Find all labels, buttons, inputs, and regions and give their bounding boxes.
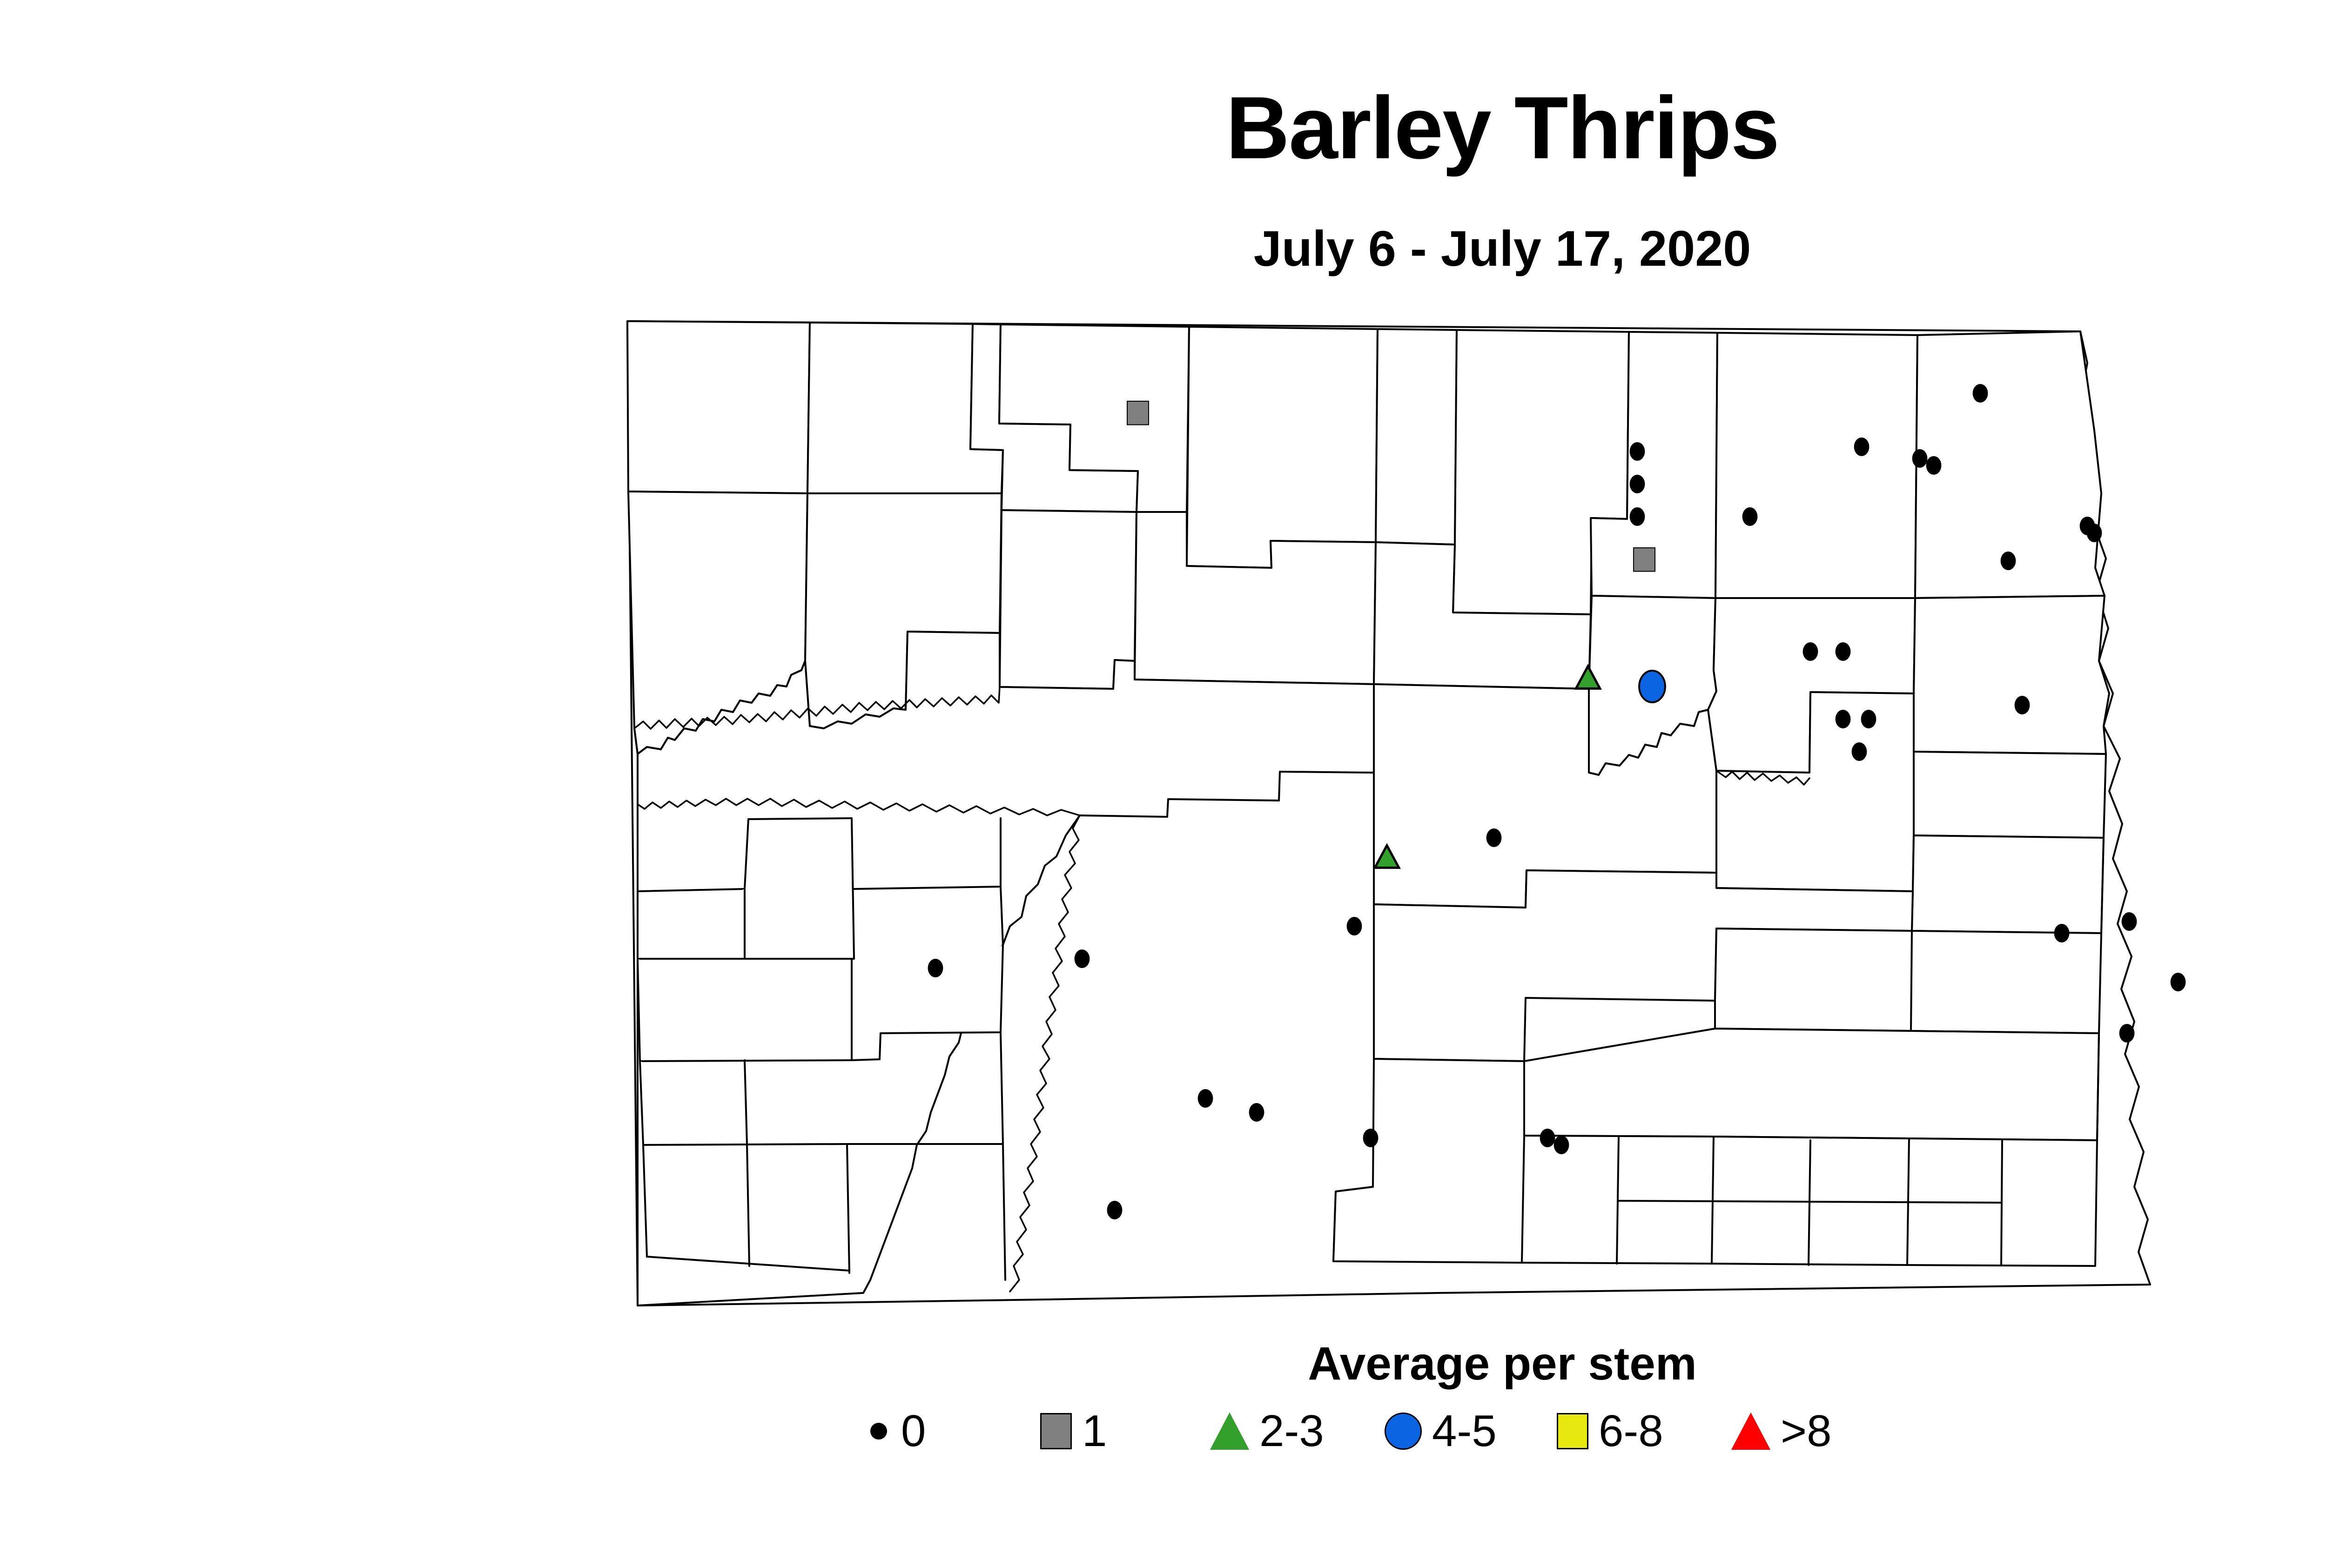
map-marker-0	[2001, 552, 2016, 570]
map-marker-0	[1075, 949, 1090, 968]
legend-item-label: 4-5	[1432, 1409, 1497, 1454]
map-marker-0	[2171, 973, 2186, 991]
map-marker-0	[1926, 456, 1942, 475]
map-marker-1	[1634, 548, 1655, 572]
map-marker-0	[1803, 642, 1818, 661]
yellow-square-icon	[1557, 1413, 1588, 1449]
map-marker-0	[1852, 742, 1867, 761]
map-page: Barley Thrips July 6 - July 17, 2020	[0, 0, 2327, 1568]
legend-item-label: 0	[901, 1409, 926, 1454]
county-line	[1911, 931, 1912, 1031]
map-marker-0	[1854, 437, 1870, 456]
map-marker-0	[1630, 507, 1645, 526]
map-svg	[591, 307, 2266, 1322]
map-marker-0	[2122, 912, 2137, 931]
county	[1187, 327, 1378, 568]
county	[1376, 329, 1457, 545]
map-marker-0	[1198, 1089, 1213, 1108]
map-marker-0	[1742, 507, 1758, 526]
map-marker-1	[1127, 401, 1149, 425]
map-marker-0	[1486, 828, 1502, 847]
page-subtitle: July 6 - July 17, 2020	[0, 223, 2327, 274]
map-marker-0	[1630, 442, 1645, 461]
map-base-layer	[627, 321, 2150, 1306]
green-triangle-icon	[1210, 1413, 1249, 1450]
map-marker-0	[1347, 917, 1362, 935]
map-marker-45	[1639, 671, 1665, 702]
page-title: Barley Thrips	[0, 84, 2327, 172]
legend-item-1[interactable]: 1	[1040, 1401, 1107, 1461]
legend-item-label: 2-3	[1259, 1409, 1324, 1454]
legend-item-68[interactable]: 6-8	[1557, 1401, 1663, 1461]
county-line	[1809, 1202, 2001, 1203]
legend-item-8[interactable]: >8	[1731, 1401, 1831, 1461]
map-marker-0	[2015, 696, 2030, 714]
blue-circle-icon	[1385, 1413, 1422, 1450]
legend: 012-34-56-8>8	[870, 1401, 1987, 1466]
map-marker-0	[1861, 710, 1876, 728]
map-marker-0	[1630, 475, 1645, 493]
legend-title: Average per stem	[0, 1340, 2327, 1387]
map-marker-0	[1912, 449, 1928, 468]
legend-item-45[interactable]: 4-5	[1385, 1401, 1497, 1461]
legend-item-label: 1	[1082, 1409, 1107, 1454]
map-marker-0	[1836, 710, 1851, 728]
map-marker-0	[1540, 1129, 1555, 1147]
county	[1914, 596, 2109, 754]
map-marker-0	[928, 959, 943, 977]
county	[1912, 835, 2104, 933]
map-marker-0	[1249, 1103, 1264, 1122]
map-marker-0	[1554, 1136, 1569, 1154]
gray-square-icon	[1040, 1413, 1072, 1449]
map-marker-0	[1973, 384, 1988, 403]
map-marker-0	[1836, 642, 1851, 661]
map-marker-0	[1363, 1129, 1379, 1147]
legend-item-23[interactable]: 2-3	[1210, 1401, 1324, 1461]
county-line	[1619, 1201, 1809, 1202]
legend-item-label: 6-8	[1599, 1409, 1663, 1454]
map-marker-0	[1107, 1201, 1123, 1219]
county	[627, 321, 810, 493]
north-dakota-map	[591, 307, 2266, 1322]
county	[1715, 929, 2101, 1033]
county	[1715, 333, 1917, 598]
map-marker-0	[2054, 924, 2070, 942]
red-triangle-icon	[1731, 1413, 1770, 1450]
map-marker-0	[2087, 524, 2102, 542]
legend-item-label: >8	[1781, 1409, 1831, 1454]
map-marker-0	[2119, 1024, 2135, 1043]
legend-item-0[interactable]: 0	[870, 1401, 926, 1461]
black-circle-icon	[870, 1423, 887, 1440]
